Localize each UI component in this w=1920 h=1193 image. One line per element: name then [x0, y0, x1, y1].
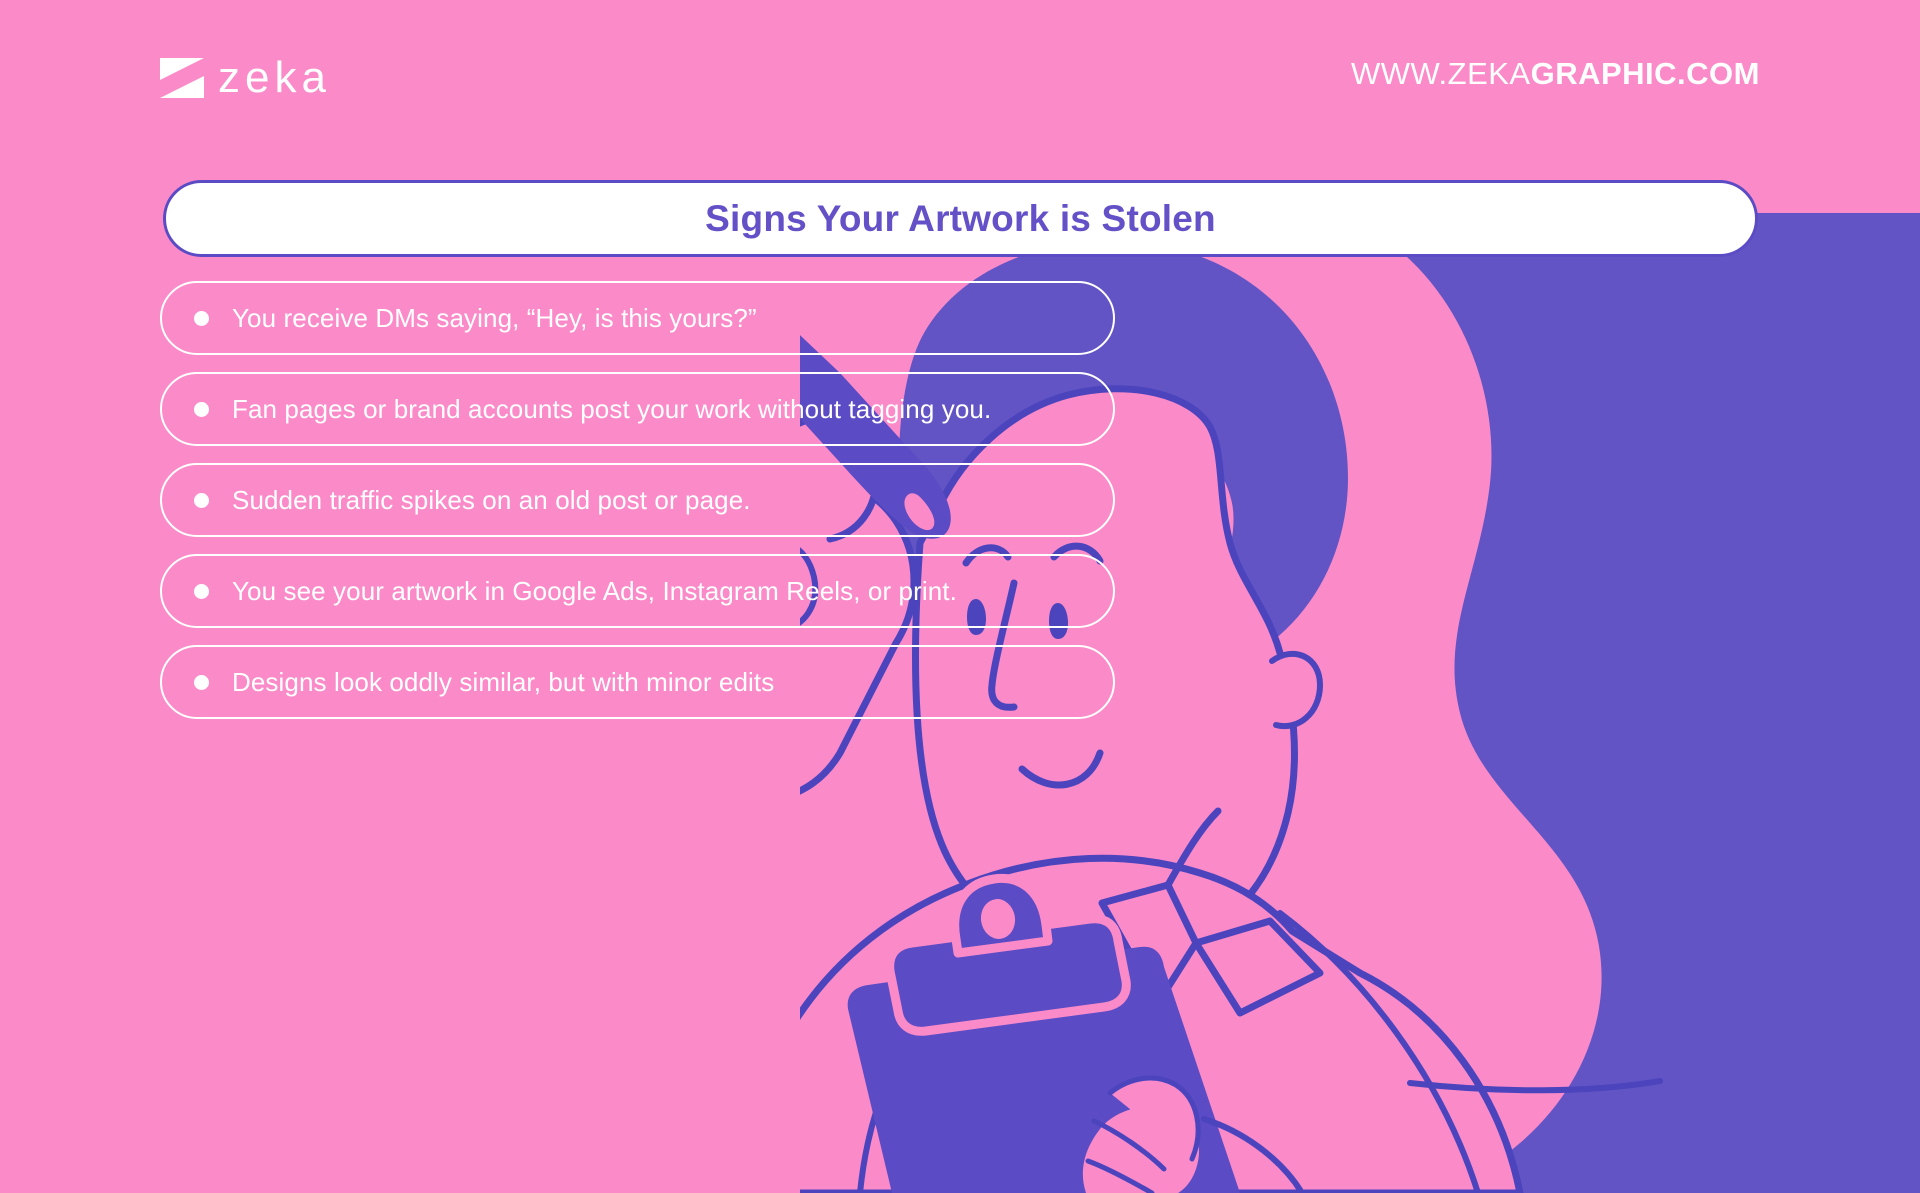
page-title: Signs Your Artwork is Stolen — [705, 200, 1216, 237]
main-content: Signs Your Artwork is Stolen You receive… — [0, 0, 1920, 1193]
list-item-label: Fan pages or brand accounts post your wo… — [232, 395, 991, 424]
list-item[interactable]: You see your artwork in Google Ads, Inst… — [160, 554, 1115, 628]
title-banner: Signs Your Artwork is Stolen — [163, 180, 1758, 257]
list-item[interactable]: You receive DMs saying, “Hey, is this yo… — [160, 281, 1115, 355]
list-item[interactable]: Sudden traffic spikes on an old post or … — [160, 463, 1115, 537]
bullet-dot-icon — [194, 402, 209, 417]
list-item[interactable]: Designs look oddly similar, but with min… — [160, 645, 1115, 719]
bullet-dot-icon — [194, 675, 209, 690]
list-item-label: Sudden traffic spikes on an old post or … — [232, 486, 751, 515]
bullet-dot-icon — [194, 493, 209, 508]
bullet-dot-icon — [194, 311, 209, 326]
signs-list: You receive DMs saying, “Hey, is this yo… — [160, 281, 1115, 736]
list-item-label: You see your artwork in Google Ads, Inst… — [232, 577, 957, 606]
list-item[interactable]: Fan pages or brand accounts post your wo… — [160, 372, 1115, 446]
bullet-dot-icon — [194, 584, 209, 599]
list-item-label: Designs look oddly similar, but with min… — [232, 668, 774, 697]
list-item-label: You receive DMs saying, “Hey, is this yo… — [232, 304, 757, 333]
